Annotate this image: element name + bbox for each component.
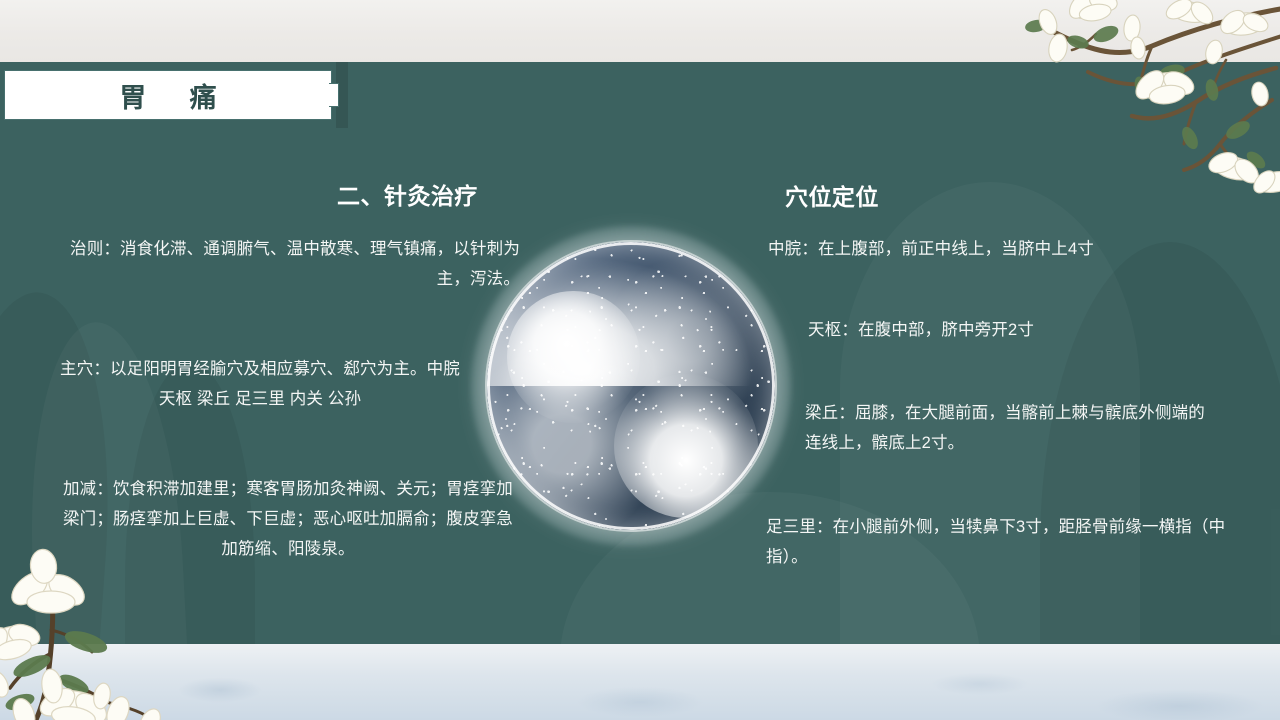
acupoint-zhongwan: 中脘：在上腹部，前正中线上，当脐中上4寸 xyxy=(768,234,1238,264)
bottom-watercolor-band xyxy=(0,644,1280,720)
paragraph-modifications: 加减：饮食积滞加建里；寒客胃肠加灸神阙、关元；胃痉挛加梁门；肠痉挛加上巨虚、下巨… xyxy=(62,474,514,564)
acupoint-tianshu: 天枢：在腹中部，脐中旁开2寸 xyxy=(808,315,1228,345)
page-title: 胃 痛 xyxy=(4,70,332,120)
taiji-sphere-image xyxy=(487,242,775,530)
top-paper-band xyxy=(0,0,1280,62)
sphere-disc xyxy=(487,242,775,530)
paragraph-treatment-principle: 治则：消食化滞、通调腑气、温中散寒、理气镇痛，以针刺为主，泻法。 xyxy=(60,234,520,294)
slide-canvas: 胃 痛 二、针灸治疗 穴位定位 治则：消食化滞、通调腑气、温中散寒、理气镇痛，以… xyxy=(0,0,1280,720)
section-heading-acupuncture-treatment: 二、针灸治疗 xyxy=(337,177,478,211)
paragraph-main-acupoints: 主穴：以足阳明胃经腧穴及相应募穴、郄穴为主。中脘 天枢 梁丘 足三里 内关 公孙 xyxy=(50,354,470,414)
acupoint-zusanli: 足三里：在小腿前外侧，当犊鼻下3寸，距胫骨前缘一横指（中指）。 xyxy=(766,512,1236,572)
acupoint-liangqiu: 梁丘：屈膝，在大腿前面，当髂前上棘与髌底外侧端的连线上，髌底上2寸。 xyxy=(805,398,1205,458)
section-heading-acupoint-location: 穴位定位 xyxy=(785,178,879,212)
title-plaque: 胃 痛 xyxy=(0,62,348,128)
sphere-rim-highlight xyxy=(487,242,775,530)
